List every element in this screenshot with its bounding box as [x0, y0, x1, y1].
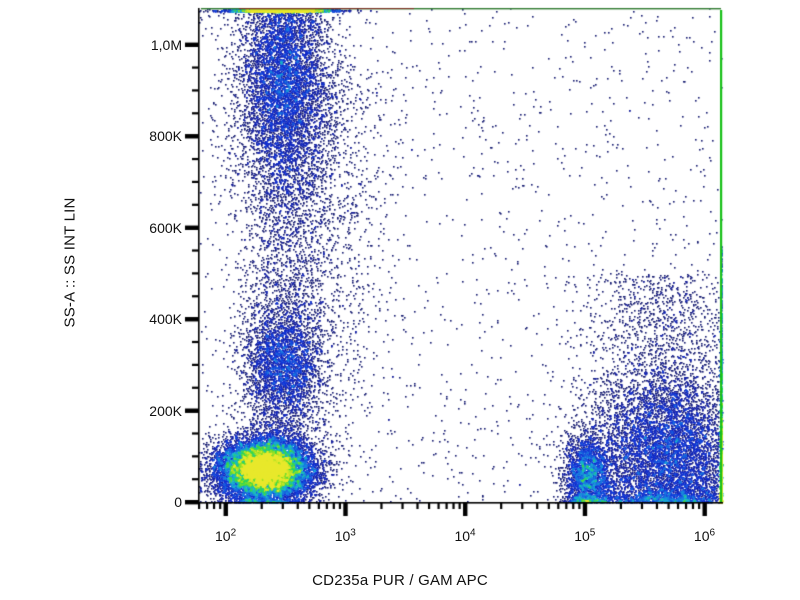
- y-tick-label: 400K: [110, 311, 182, 327]
- x-tick-label: 105: [574, 528, 595, 544]
- x-axis-title: CD235a PUR / GAM APC: [0, 572, 800, 589]
- y-tick-label: 200K: [110, 403, 182, 419]
- y-axis-title: SS-A :: SS INT LIN: [62, 133, 79, 393]
- y-tick-label: 1,0M: [110, 37, 182, 53]
- x-tick-label: 106: [694, 528, 715, 544]
- y-tick-label: 600K: [110, 220, 182, 236]
- flow-cytometry-plot: CD235a PUR / GAM APC SS-A :: SS INT LIN …: [0, 0, 800, 600]
- x-tick-label: 104: [454, 528, 475, 544]
- x-tick-label: 103: [335, 528, 356, 544]
- y-tick-label: 800K: [110, 128, 182, 144]
- y-tick-label: 0: [110, 494, 182, 510]
- scatter-plot-canvas: [0, 0, 800, 600]
- x-tick-label: 102: [215, 528, 236, 544]
